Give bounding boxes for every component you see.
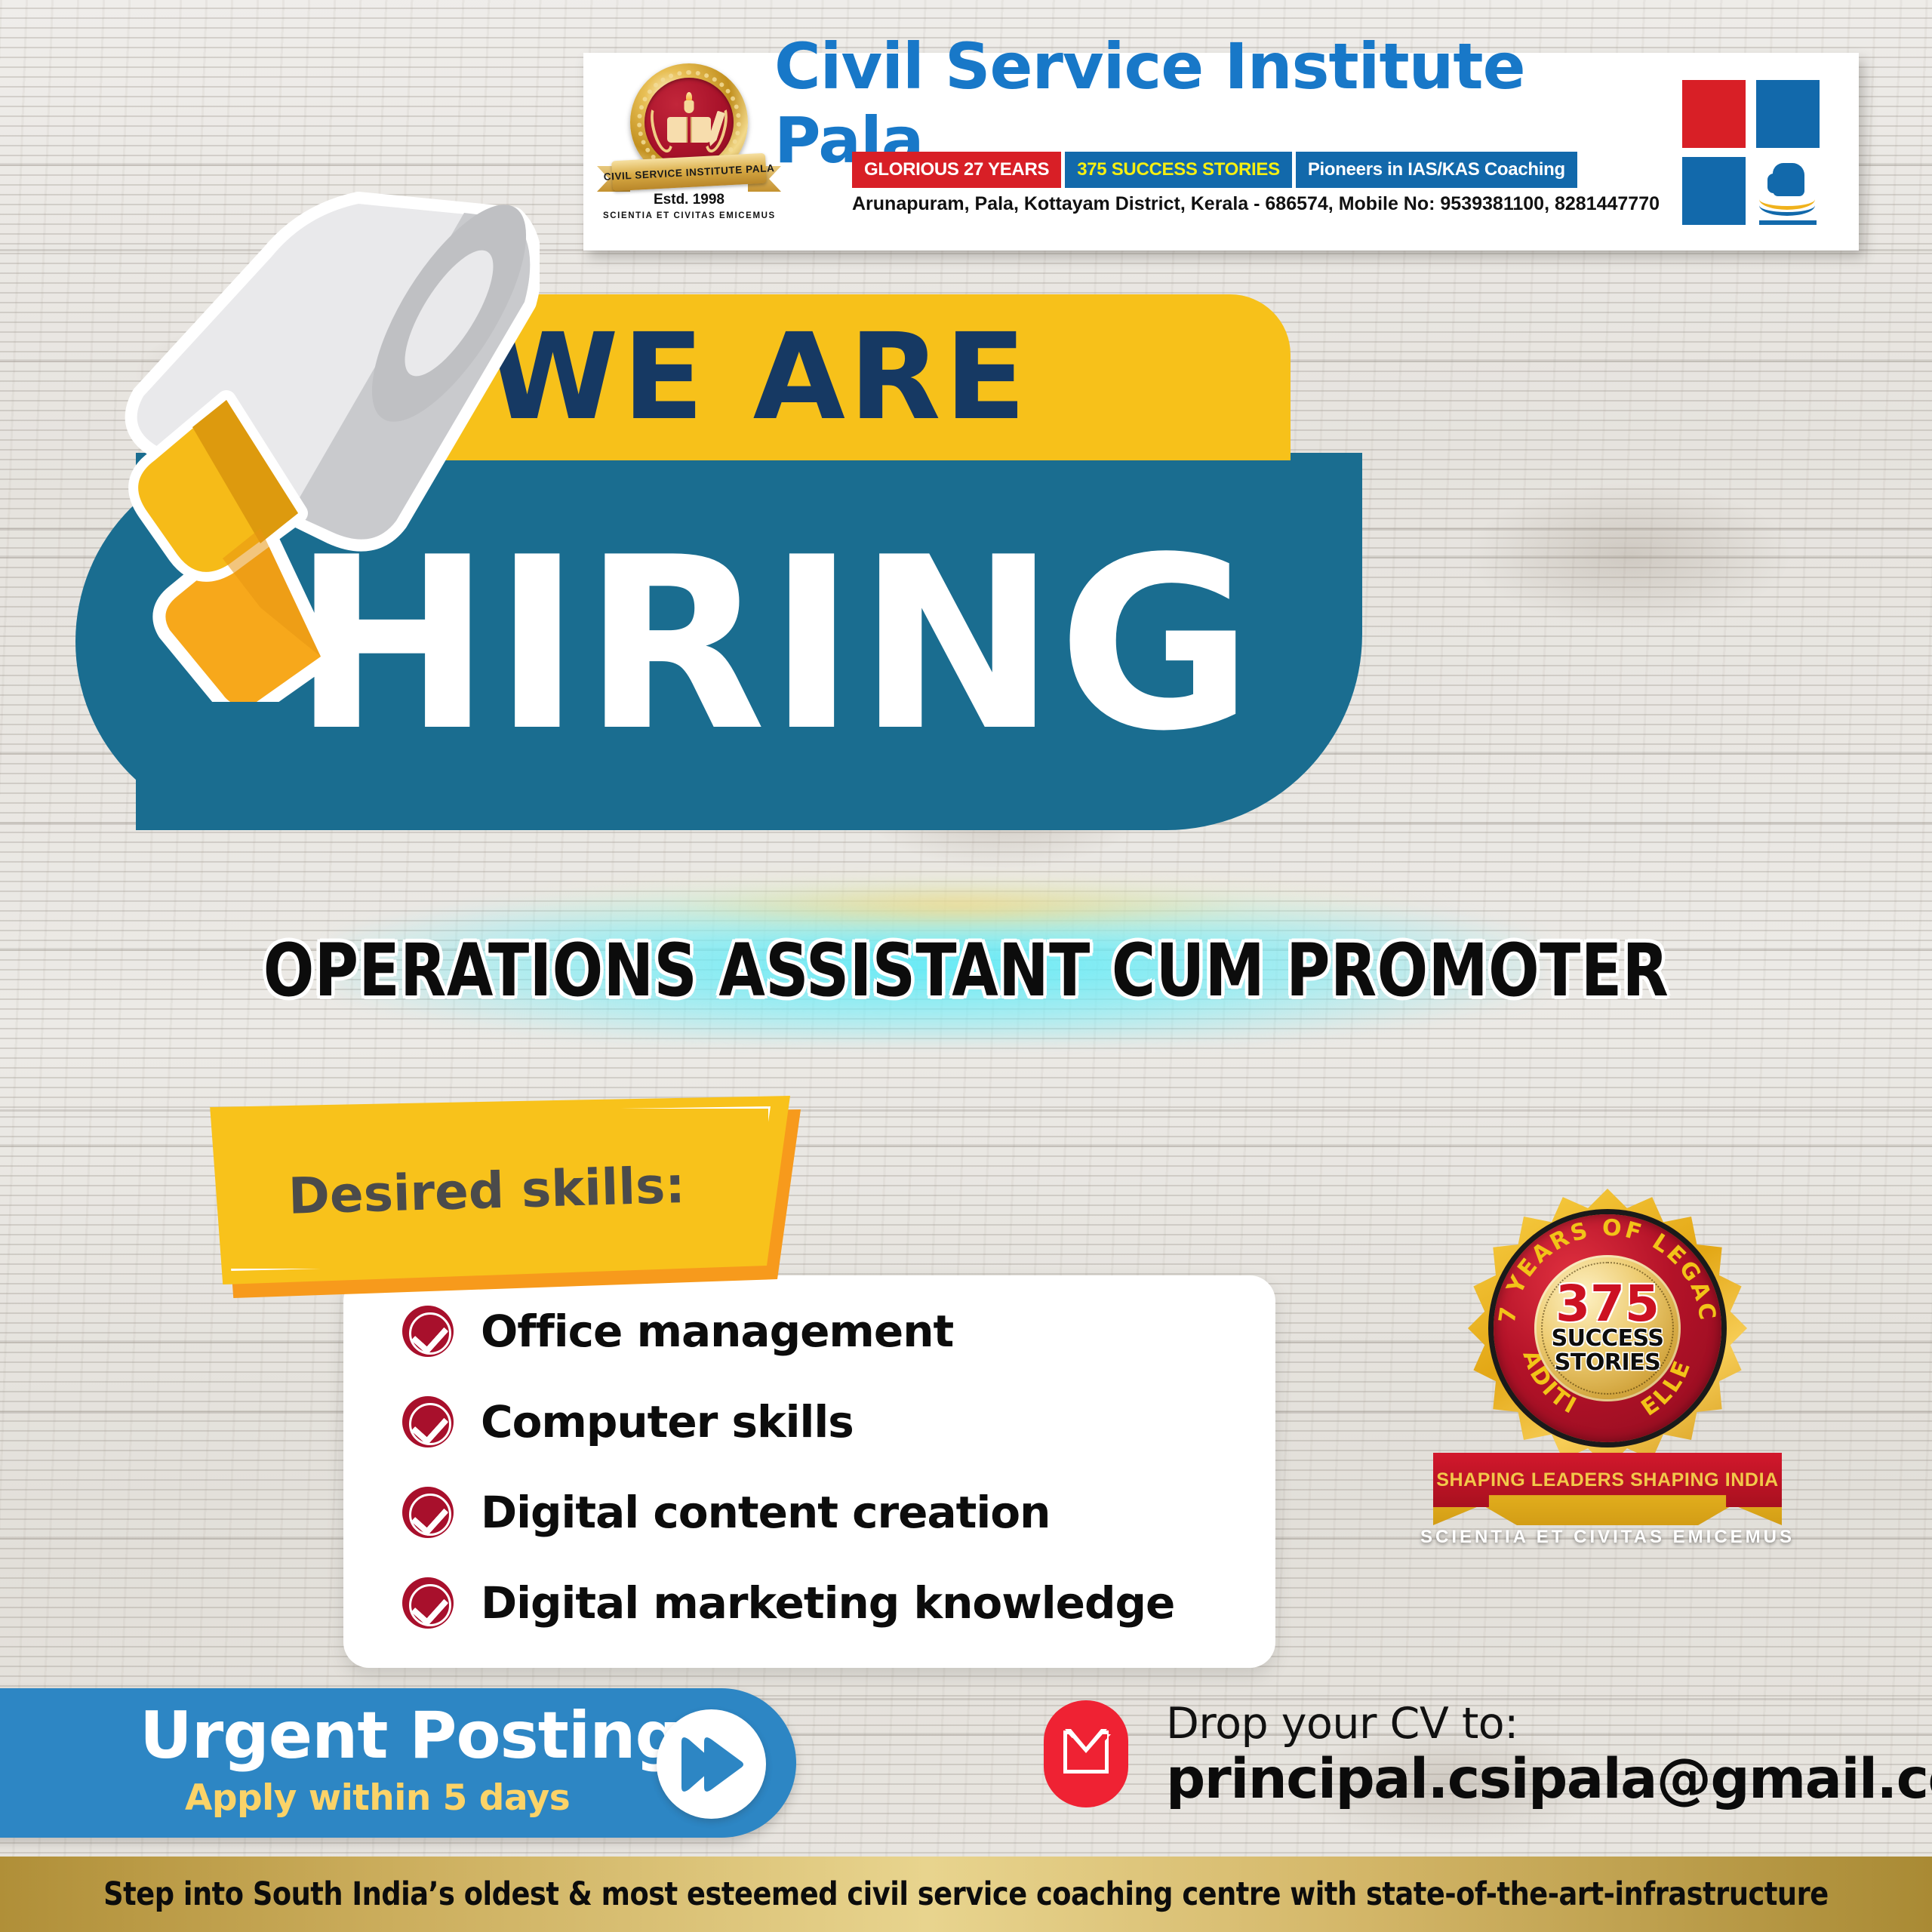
raised-fist-icon: [1756, 157, 1820, 225]
footer-strip: Step into South India’s oldest & most es…: [0, 1857, 1932, 1932]
footer-text: Step into South India’s oldest & most es…: [103, 1875, 1829, 1913]
emblem-ribbon-text: CIVIL SERVICE INSTITUTE PALA: [603, 162, 774, 183]
apply-deadline-text: Apply within 5 days: [185, 1777, 570, 1819]
emblem-motto: SCIENTIA ET CIVITAS EMICEMUS: [603, 211, 775, 220]
cv-email-address[interactable]: principal.csipala@gmail.com: [1166, 1747, 1932, 1811]
block-blue-top: [1756, 80, 1820, 148]
block-blue-bottom: [1682, 157, 1746, 225]
seal-ribbon-text: SHAPING LEADERS SHAPING INDIA: [1436, 1469, 1779, 1491]
badge-glorious-years: GLORIOUS 27 YEARS: [852, 152, 1061, 188]
skills-card: Office management Computer skills Digita…: [343, 1275, 1275, 1668]
double-chevron-right-icon[interactable]: [657, 1709, 766, 1819]
list-item: Office management: [402, 1306, 953, 1357]
badge-success-stories: 375 SUCCESS STORIES: [1065, 152, 1292, 188]
institute-header-banner: CIVIL SERVICE INSTITUTE PALA Estd. 1998 …: [583, 53, 1859, 251]
desired-skills-heading: Desired skills:: [203, 1088, 793, 1293]
check-circle-icon: [402, 1487, 454, 1538]
institute-address: Arunapuram, Pala, Kottayam District, Ker…: [852, 193, 1660, 215]
list-item: Digital content creation: [402, 1487, 1050, 1538]
check-circle-icon: [402, 1577, 454, 1629]
check-circle-icon: [402, 1396, 454, 1447]
header-logo-blocks: [1682, 80, 1820, 225]
emblem-ribbon: CIVIL SERVICE INSTITUTE PALA: [611, 153, 767, 192]
skill-label: Digital content creation: [481, 1487, 1050, 1538]
institute-emblem-icon: CIVIL SERVICE INSTITUTE PALA Estd. 1998 …: [614, 60, 764, 241]
seal-center: 375 SUCCESS STORIES: [1534, 1255, 1681, 1401]
job-title: OPERATIONS ASSISTANT CUM PROMOTER: [161, 928, 1771, 1013]
success-stories-seal: 27 YEARS OF LEGACY TRADITION EXCELLENCE …: [1438, 1189, 1777, 1558]
megaphone-icon: [72, 174, 540, 702]
skill-label: Office management: [481, 1306, 953, 1357]
seal-motto: SCIENTIA ET CIVITAS EMICEMUS: [1407, 1527, 1807, 1548]
desired-skills-banner: Desired skills:: [205, 1096, 790, 1284]
cv-label: Drop your CV to:: [1166, 1699, 1518, 1749]
header-badges: GLORIOUS 27 YEARS 375 SUCCESS STORIES Pi…: [852, 152, 1577, 188]
skill-label: Computer skills: [481, 1396, 854, 1447]
seal-success: SUCCESS: [1552, 1327, 1664, 1350]
block-red: [1682, 80, 1746, 148]
list-item: Digital marketing knowledge: [402, 1577, 1174, 1629]
email-envelope-icon: [1044, 1700, 1128, 1807]
skill-label: Digital marketing knowledge: [481, 1577, 1174, 1629]
seal-number: 375: [1555, 1281, 1660, 1327]
seal-stories: STORIES: [1555, 1350, 1660, 1375]
check-circle-icon: [402, 1306, 454, 1357]
list-item: Computer skills: [402, 1396, 854, 1447]
badge-pioneers-coaching: Pioneers in IAS/KAS Coaching: [1296, 152, 1577, 188]
urgent-posting-title: Urgent Posting: [140, 1698, 681, 1774]
institute-name: Civil Service Institute Pala: [774, 62, 1687, 145]
emblem-established: Estd. 1998: [614, 192, 764, 208]
